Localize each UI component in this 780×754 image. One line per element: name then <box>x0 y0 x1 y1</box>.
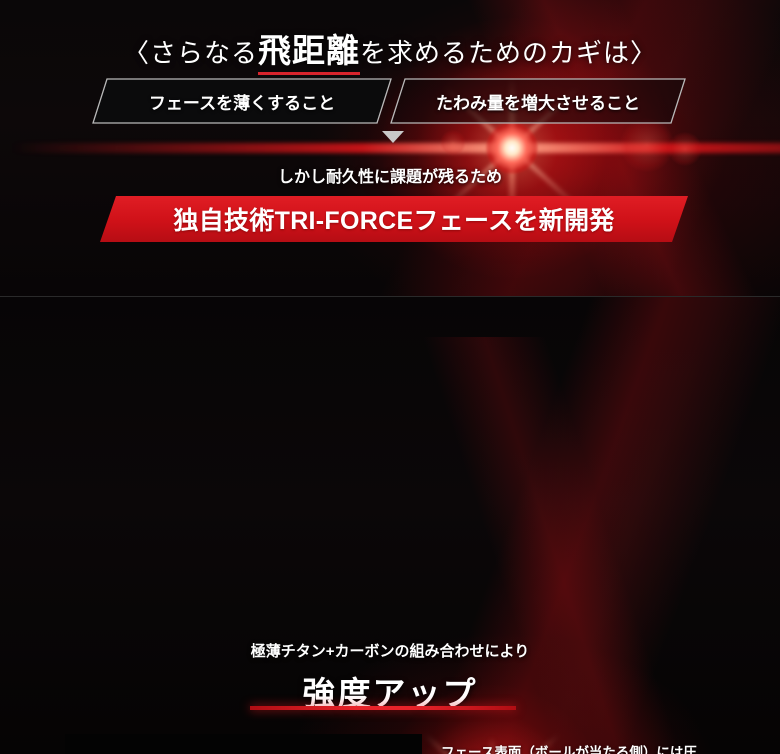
triangle-down-icon <box>382 131 404 143</box>
section2-kicker: 極薄チタン+カーボンの組み合わせにより <box>0 640 780 661</box>
page-root: 〈さらなる飛距離を求めるためのカギは〉 フェースを薄くすること たわみ量を増大さ… <box>0 0 780 754</box>
section-strength-up: 極薄チタン+カーボンの組み合わせにより 強度アップ <box>0 297 780 754</box>
new-technology-banner-label: 独自技術TRI-FORCEフェースを新開発 <box>173 201 614 237</box>
headline-emphasis: 飛距離 <box>258 32 360 69</box>
title-underline-rule <box>250 706 516 710</box>
key-point-box-2[interactable]: たわみ量を増大させること <box>390 78 686 124</box>
headline-underline <box>258 72 360 75</box>
key-point-label-2: たわみ量を増大させること <box>436 89 640 114</box>
headline-prefix: 〈さらなる <box>123 38 258 68</box>
section-key-to-distance: 〈さらなる飛距離を求めるためのカギは〉 フェースを薄くすること たわみ量を増大さ… <box>0 0 780 297</box>
key-point-row: フェースを薄くすること たわみ量を増大させること <box>92 78 688 124</box>
section2-paragraph: フェース表面（ボールが当たる側）には圧力、内側には引張というストレスがかかる。通… <box>441 741 719 754</box>
section1-sublead: しかし耐久性に課題が残るため <box>0 163 780 187</box>
headline-suffix: を求めるためのカギは〉 <box>360 38 657 68</box>
club-cross-section-figure: allaway <box>65 734 422 754</box>
key-point-box-1[interactable]: フェースを薄くすること <box>92 78 392 124</box>
key-point-label-1: フェースを薄くすること <box>149 89 335 114</box>
page-headline: 〈さらなる飛距離を求めるためのカギは〉 <box>0 24 780 72</box>
headline-emphasis-text: 飛距離 <box>258 32 360 69</box>
new-technology-banner: 独自技術TRI-FORCEフェースを新開発 <box>100 196 688 242</box>
